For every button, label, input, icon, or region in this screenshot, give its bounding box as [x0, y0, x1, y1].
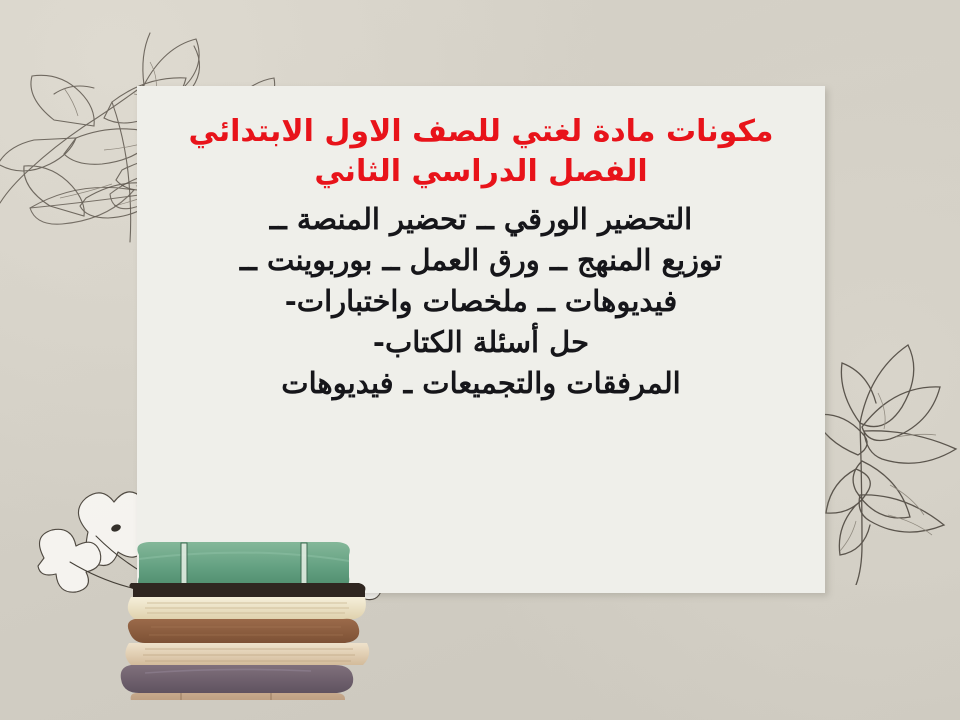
- body-line-4: حل أسئلة الكتاب-: [177, 322, 785, 363]
- body-paragraph: التحضير الورقي ــ تحضير المنصة ــ توزيع …: [171, 199, 791, 405]
- body-line-5: المرفقات والتجميعات ـ فيديوهات: [177, 363, 785, 404]
- body-line-2: توزيع المنهج ــ ورق العمل ــ بوربوينت ــ: [177, 240, 785, 281]
- body-line-1: التحضير الورقي ــ تحضير المنصة ــ: [177, 199, 785, 240]
- slide-text-block: مكونات مادة لغتي للصف الاول الابتدائي ال…: [137, 86, 825, 593]
- slide-canvas: مكونات مادة لغتي للصف الاول الابتدائي ال…: [0, 0, 960, 720]
- heading-line-1: مكونات مادة لغتي للصف الاول الابتدائي: [171, 112, 791, 152]
- heading-line-2: الفصل الدراسي الثاني: [171, 152, 791, 192]
- body-line-3: فيديوهات ــ ملخصات واختبارات-: [177, 281, 785, 322]
